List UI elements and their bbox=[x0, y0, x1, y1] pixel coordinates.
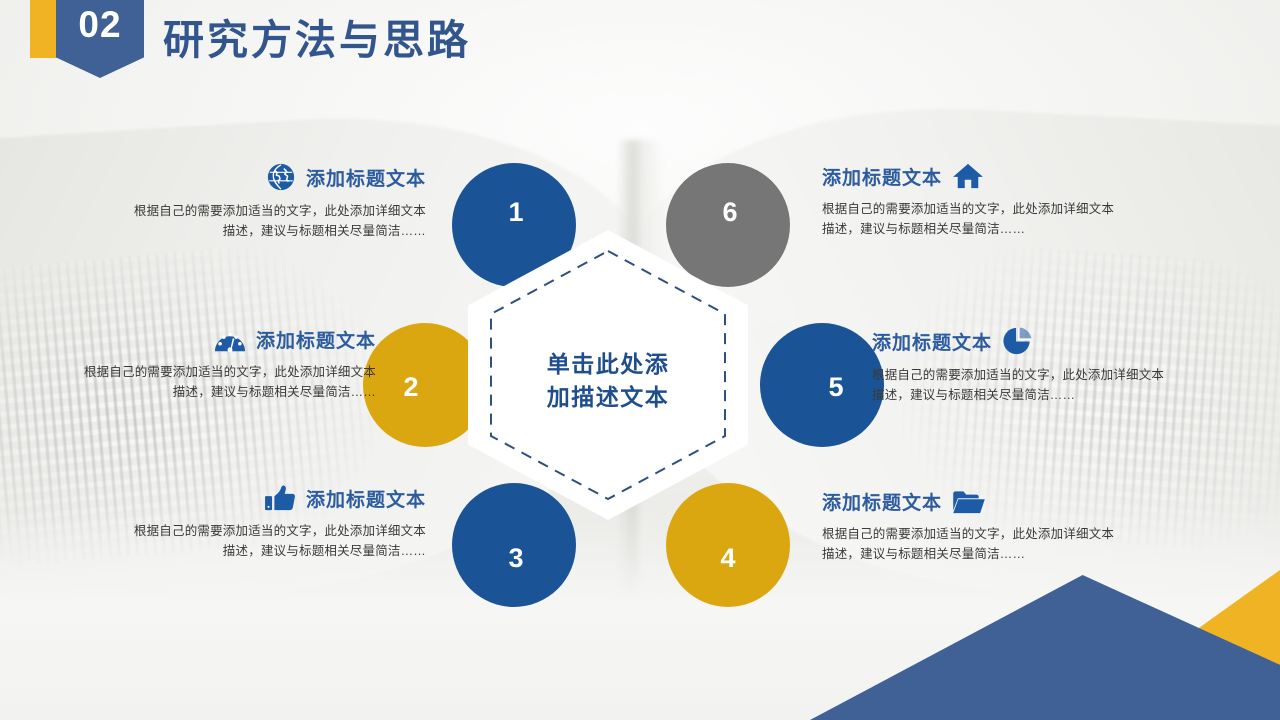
center-hexagon-text[interactable]: 单击此处添 加描述文本 bbox=[488, 348, 728, 415]
feature-block-3-title: 添加标题文本 bbox=[306, 485, 426, 512]
feature-block-1-header: 添加标题文本 bbox=[126, 162, 426, 192]
folder-icon bbox=[952, 489, 986, 515]
feature-block-4-header: 添加标题文本 bbox=[822, 162, 1122, 190]
feature-block-6-header: 添加标题文本 bbox=[822, 488, 1122, 515]
feature-block-5-title: 添加标题文本 bbox=[872, 328, 992, 355]
feature-block-1-body: 根据自己的需要添加适当的文字，此处添加详细文本描述，建议与标题相关尽量简洁…… bbox=[126, 201, 426, 242]
center-text-line-1: 单击此处添 bbox=[488, 348, 728, 381]
feature-block-3[interactable]: 添加标题文本 根据自己的需要添加适当的文字，此处添加详细文本描述，建议与标题相关… bbox=[126, 484, 426, 562]
thumbs-up-icon bbox=[264, 484, 296, 512]
center-text-line-2: 加描述文本 bbox=[488, 381, 728, 414]
feature-block-6[interactable]: 添加标题文本 根据自己的需要添加适当的文字，此处添加详细文本描述，建议与标题相关… bbox=[822, 488, 1122, 565]
header-yellow-bar bbox=[30, 0, 58, 58]
step-circle-5-number: 5 bbox=[828, 372, 843, 403]
feature-block-3-body: 根据自己的需要添加适当的文字，此处添加详细文本描述，建议与标题相关尽量简洁…… bbox=[126, 521, 426, 562]
slide-canvas: 02 研究方法与思路 1 6 2 5 3 4 单击此处添 加描述文本 bbox=[0, 0, 1280, 720]
feature-block-5-header: 添加标题文本 bbox=[872, 326, 1172, 356]
feature-block-5[interactable]: 添加标题文本 根据自己的需要添加适当的文字，此处添加详细文本描述，建议与标题相关… bbox=[872, 326, 1172, 406]
feature-block-6-title: 添加标题文本 bbox=[822, 488, 942, 515]
feature-block-3-header: 添加标题文本 bbox=[126, 484, 426, 512]
feature-block-4-title: 添加标题文本 bbox=[822, 163, 942, 190]
home-icon bbox=[952, 162, 984, 190]
step-circle-3-number: 3 bbox=[508, 543, 523, 574]
gauge-icon bbox=[214, 327, 246, 353]
feature-block-2[interactable]: 添加标题文本 根据自己的需要添加适当的文字，此处添加详细文本描述，建议与标题相关… bbox=[76, 326, 376, 403]
page-title: 研究方法与思路 bbox=[163, 16, 471, 65]
pie-chart-icon bbox=[1002, 326, 1032, 356]
feature-block-4-body: 根据自己的需要添加适当的文字，此处添加详细文本描述，建议与标题相关尽量简洁…… bbox=[822, 199, 1122, 240]
step-circle-1-number: 1 bbox=[508, 197, 523, 228]
header-section-number: 02 bbox=[78, 6, 121, 43]
step-circle-2-number: 2 bbox=[403, 372, 418, 403]
globe-icon bbox=[266, 162, 296, 192]
feature-block-4[interactable]: 添加标题文本 根据自己的需要添加适当的文字，此处添加详细文本描述，建议与标题相关… bbox=[822, 162, 1122, 240]
step-circle-5[interactable]: 5 bbox=[760, 323, 884, 447]
feature-block-2-body: 根据自己的需要添加适当的文字，此处添加详细文本描述，建议与标题相关尽量简洁…… bbox=[76, 362, 376, 403]
feature-block-2-title: 添加标题文本 bbox=[256, 326, 376, 353]
step-circle-4-number: 4 bbox=[720, 543, 735, 574]
step-circle-6-number: 6 bbox=[722, 197, 737, 228]
feature-block-2-header: 添加标题文本 bbox=[76, 326, 376, 353]
feature-block-1-title: 添加标题文本 bbox=[306, 164, 426, 191]
feature-block-1[interactable]: 添加标题文本 根据自己的需要添加适当的文字，此处添加详细文本描述，建议与标题相关… bbox=[126, 162, 426, 242]
feature-block-6-body: 根据自己的需要添加适当的文字，此处添加详细文本描述，建议与标题相关尽量简洁…… bbox=[822, 524, 1122, 565]
feature-block-5-body: 根据自己的需要添加适当的文字，此处添加详细文本描述，建议与标题相关尽量简洁…… bbox=[872, 365, 1172, 406]
